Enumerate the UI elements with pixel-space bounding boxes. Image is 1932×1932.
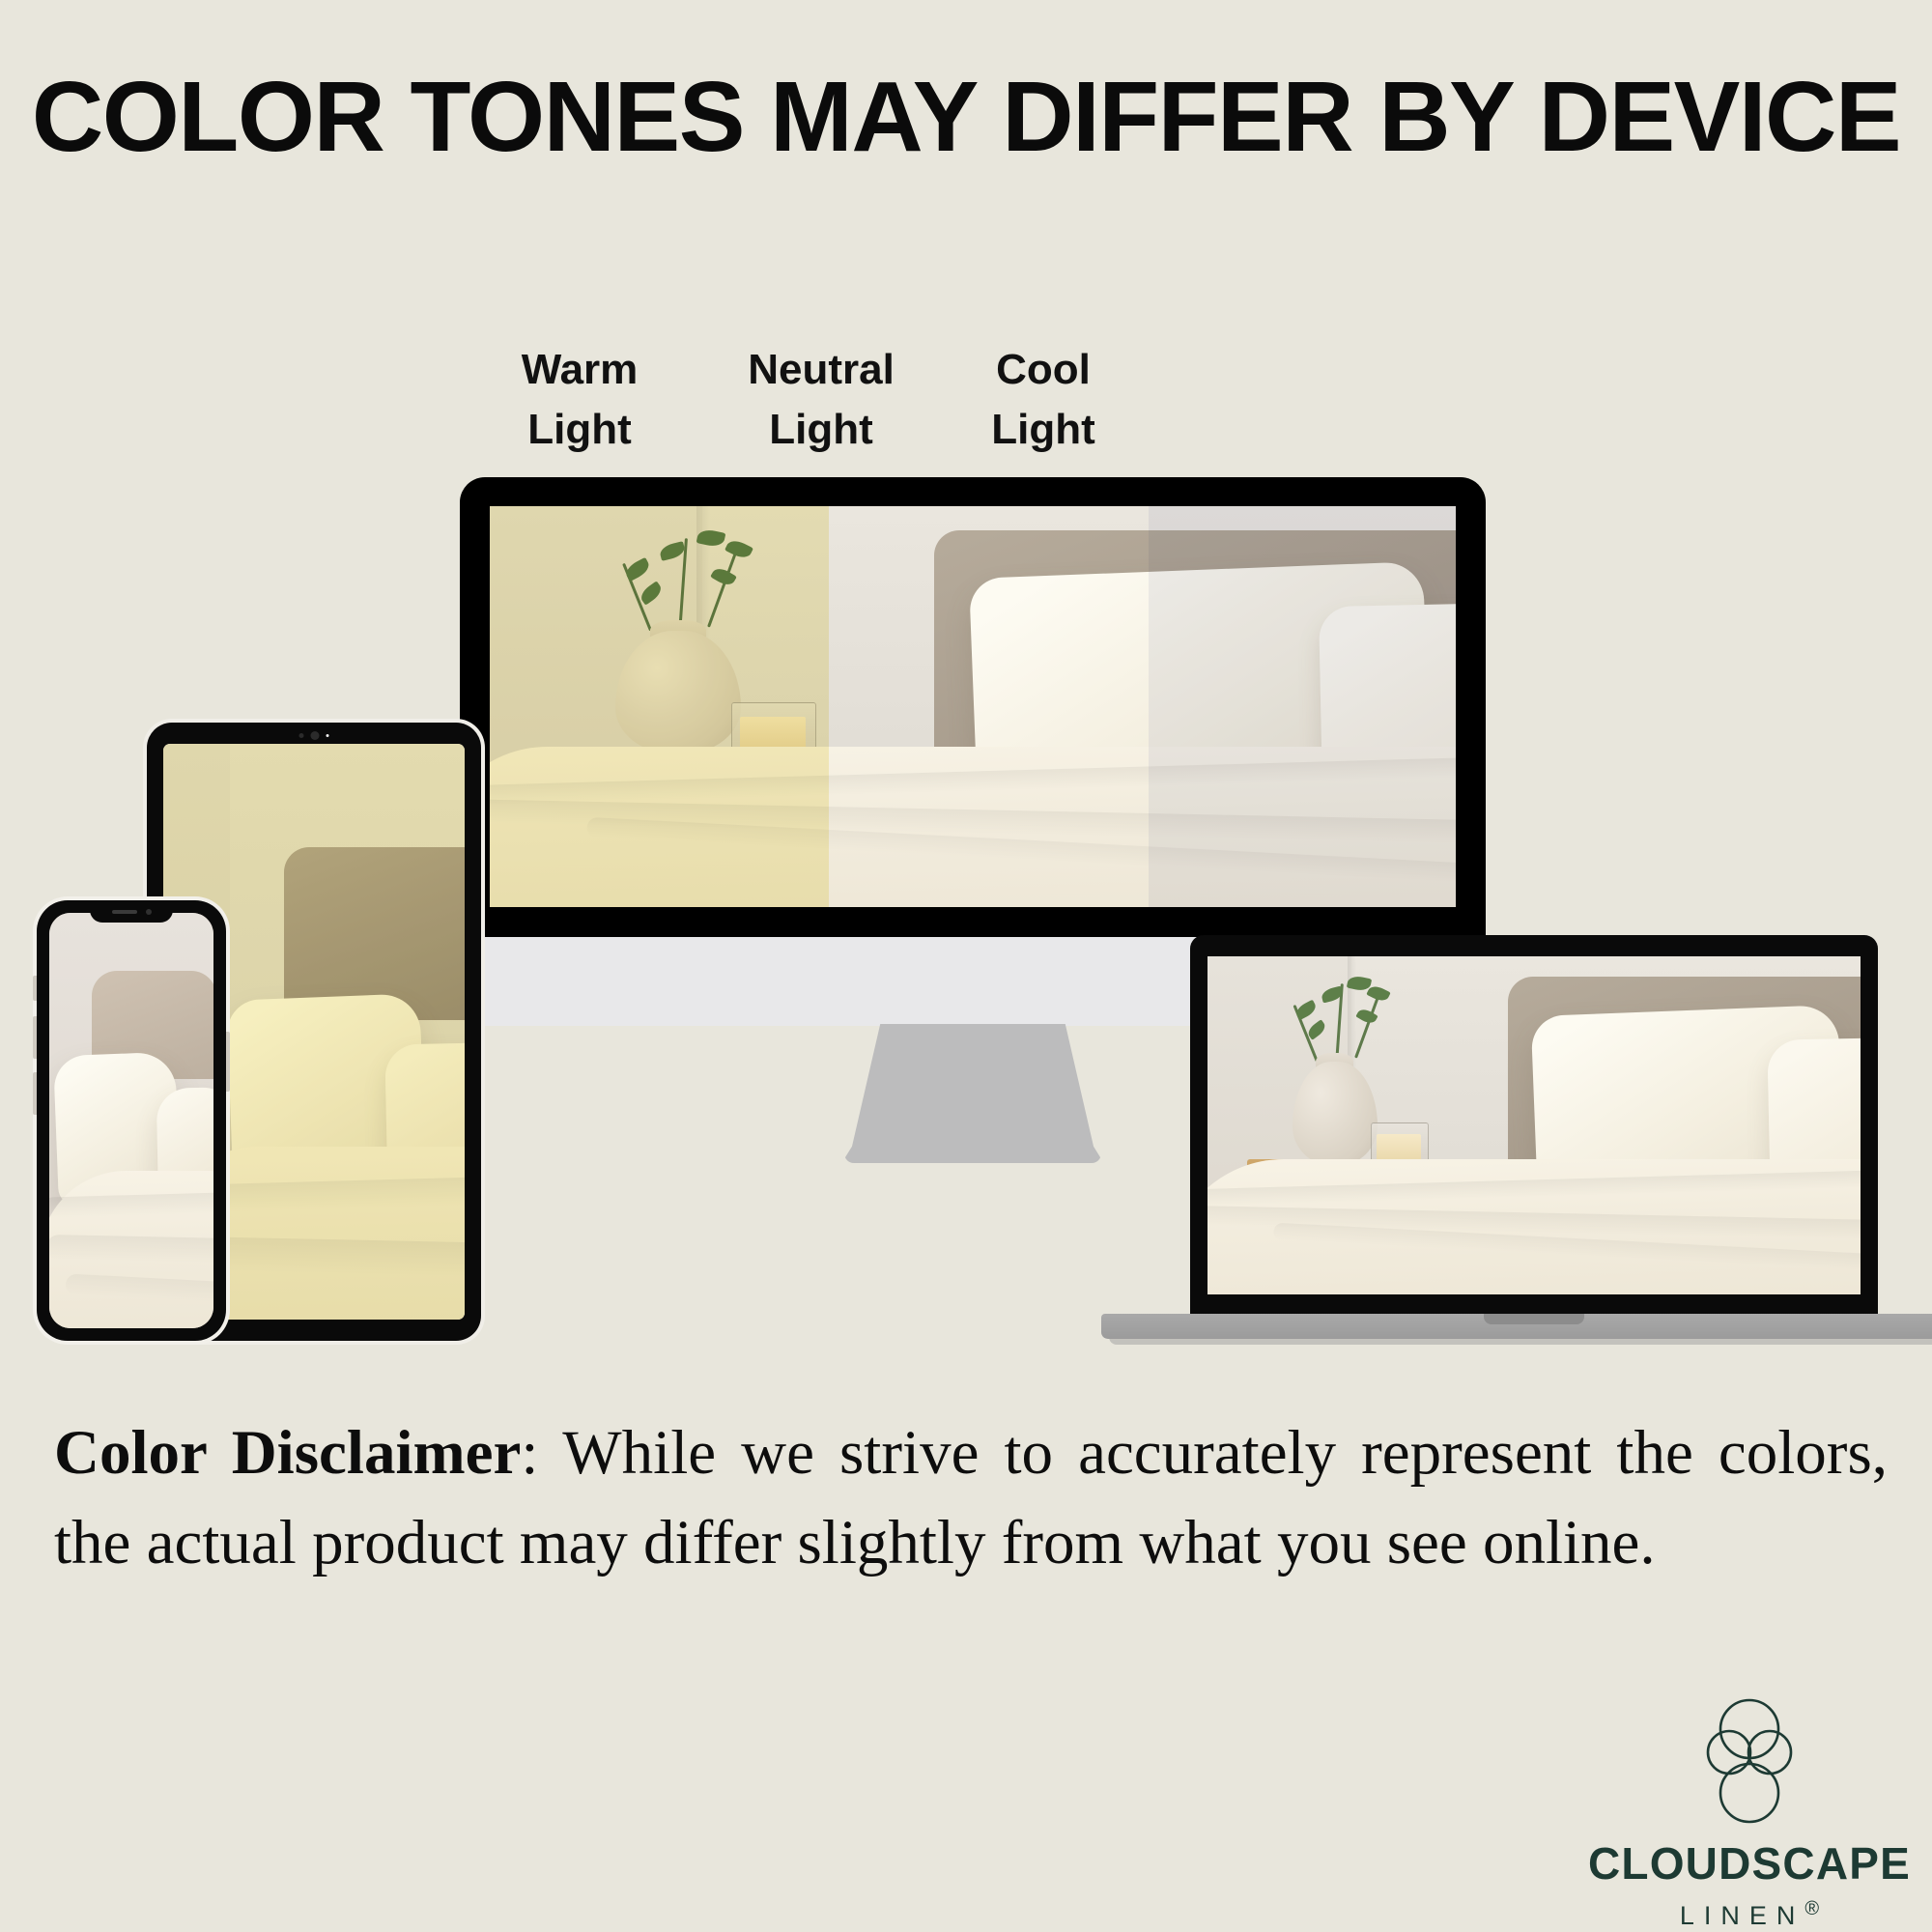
cool-light-overlay — [1149, 506, 1456, 907]
tablet-camera-icon — [311, 731, 320, 740]
warm-light-overlay — [490, 506, 829, 907]
phone-speaker-icon — [112, 910, 137, 914]
monitor-stand — [844, 1024, 1101, 1163]
laptop-trackpad-notch — [1484, 1314, 1584, 1324]
tablet-sensor-icon — [299, 733, 304, 738]
label-cool-light: Cool Light — [927, 340, 1159, 460]
phone-volume-down-button[interactable] — [33, 1072, 37, 1115]
brand-sub-text: LINEN — [1680, 1901, 1805, 1930]
monitor-screen — [490, 506, 1456, 907]
label-cool-line2: Light — [927, 400, 1159, 460]
brand-logo: CLOUDSCAPE LINEN® — [1567, 1692, 1932, 1929]
bedroom-scene-monitor — [490, 506, 1456, 907]
page-title: COLOR TONES MAY DIFFER BY DEVICE — [0, 60, 1932, 174]
desktop-monitor — [460, 477, 1486, 883]
bedroom-scene-laptop — [1207, 956, 1861, 1294]
phone-mute-switch[interactable] — [33, 976, 37, 1001]
color-disclaimer-text: Color Disclaimer: While we strive to acc… — [54, 1408, 1888, 1588]
phone-screen — [49, 913, 213, 1328]
poster-canvas: COLOR TONES MAY DIFFER BY DEVICE Warm Li… — [0, 0, 1932, 1932]
label-warm-line2: Light — [444, 400, 715, 460]
laptop — [1190, 935, 1878, 1352]
phone-power-button[interactable] — [226, 1032, 230, 1092]
label-neutral-light: Neutral Light — [686, 340, 956, 460]
registered-mark: ® — [1804, 1898, 1819, 1919]
tablet-indicator-icon — [327, 734, 329, 737]
label-warm-light: Warm Light — [444, 340, 715, 460]
clover-infinity-logo-icon — [1693, 1692, 1805, 1830]
laptop-screen — [1207, 956, 1861, 1294]
sheet-fold — [49, 1235, 213, 1264]
brand-subtitle: LINEN® — [1680, 1899, 1819, 1929]
label-warm-line1: Warm — [444, 340, 715, 400]
tablet-camera-cluster — [299, 731, 329, 740]
bedroom-scene-phone — [49, 913, 213, 1328]
phone-camera-icon — [146, 909, 152, 915]
smartphone — [37, 900, 226, 1341]
brand-name: CLOUDSCAPE — [1567, 1841, 1932, 1886]
label-cool-line1: Cool — [927, 340, 1159, 400]
label-neutral-line2: Light — [686, 400, 956, 460]
phone-volume-up-button[interactable] — [33, 1016, 37, 1059]
label-neutral-line1: Neutral — [686, 340, 956, 400]
disclaimer-lead: Color Disclaimer — [54, 1418, 521, 1488]
phone-notch — [90, 900, 173, 923]
